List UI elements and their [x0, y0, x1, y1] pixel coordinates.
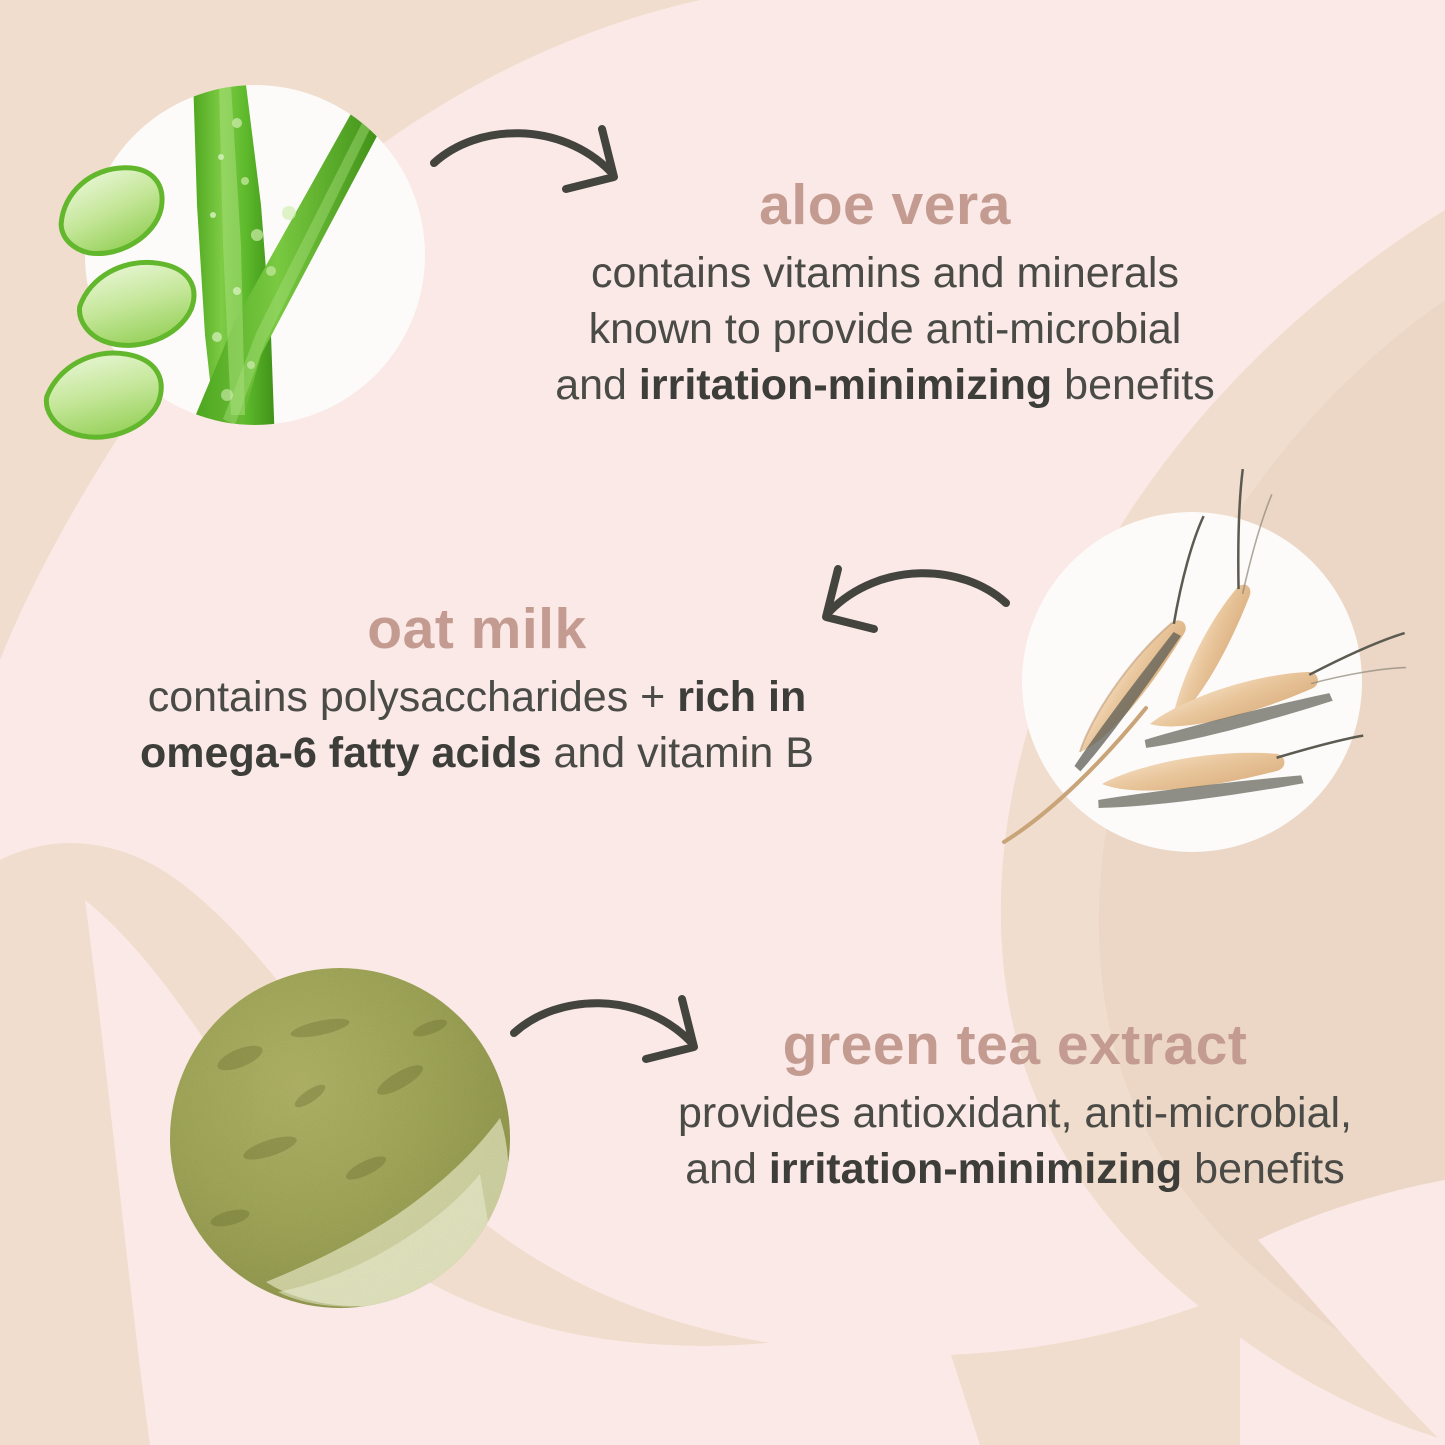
oat-milk-text-block: oat milk contains polysaccharides + rich…	[62, 600, 892, 782]
oat-spikelets-illustration	[1022, 512, 1362, 852]
aloe-droplet	[282, 206, 296, 220]
aloe-vera-photo	[85, 85, 425, 425]
aloe-droplet	[241, 177, 249, 185]
aloe-vera-illustration	[85, 85, 425, 425]
aloe-vera-heading: aloe vera	[470, 176, 1300, 236]
matcha-texture-group	[170, 968, 510, 1308]
green-tea-extract-text-block: green tea extract provides antioxidant, …	[600, 1016, 1430, 1198]
aloe-droplet	[247, 361, 255, 369]
aloe-vera-text-block: aloe vera contains vitamins and minerals…	[470, 176, 1300, 414]
aloe-droplet	[221, 389, 233, 401]
arrow-curve	[434, 133, 610, 171]
green-tea-extract-description: provides antioxidant, anti-microbial,and…	[600, 1086, 1430, 1198]
green-tea-extract-heading: green tea extract	[600, 1016, 1430, 1076]
aloe-stalks-group	[189, 77, 385, 447]
ingredient-infographic: aloe vera contains vitamins and minerals…	[0, 0, 1445, 1445]
aloe-droplet	[218, 154, 224, 160]
aloe-droplet	[266, 266, 276, 276]
aloe-vera-description: contains vitamins and mineralsknown to p…	[470, 246, 1300, 414]
aloe-droplet	[233, 287, 241, 295]
green-tea-extract-photo	[170, 968, 510, 1308]
oat-milk-description: contains polysaccharides + rich inomega-…	[62, 670, 892, 782]
aloe-droplet	[232, 118, 242, 128]
oat-milk-photo	[1022, 512, 1362, 852]
oat-milk-heading: oat milk	[62, 600, 892, 660]
matcha-powder-illustration	[170, 968, 510, 1308]
aloe-droplet	[251, 229, 263, 241]
aloe-droplet	[212, 332, 222, 342]
aloe-slice	[74, 256, 200, 352]
aloe-droplet	[210, 212, 216, 218]
